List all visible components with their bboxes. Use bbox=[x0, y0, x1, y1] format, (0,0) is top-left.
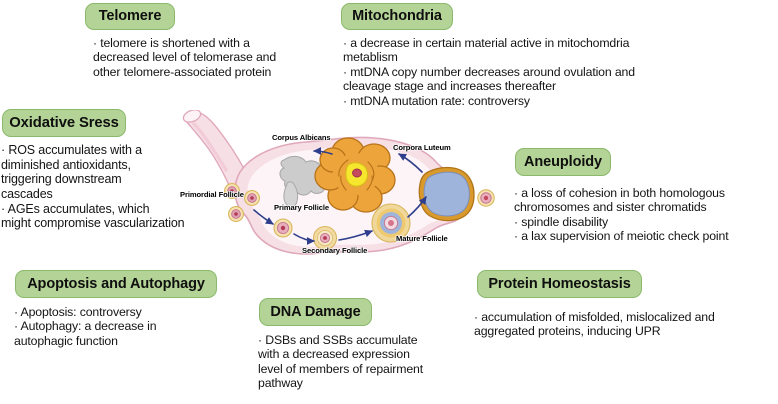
label-secondary-follicle: Secondary Follicle bbox=[302, 246, 367, 255]
label-primary-follicle: Primary Follicle bbox=[274, 203, 329, 212]
released-oocyte bbox=[478, 190, 494, 206]
panel-title-apoptosis-and-autophagy: Apoptosis and Autophagy bbox=[15, 270, 217, 298]
panel-text-dna-damage: · DSBs and SSBs accumulate with a decrea… bbox=[258, 333, 488, 391]
ovary-illustration: Corpus Albicans Corpora Luteum Primordia… bbox=[180, 110, 510, 270]
panel-title-dna-damage: DNA Damage bbox=[259, 298, 372, 326]
panel-title-protein-homeostasis: Protein Homeostasis bbox=[477, 270, 642, 298]
panel-text-aneuploidy: · a loss of cohesion in both homologous … bbox=[514, 186, 778, 244]
panel-title-aneuploidy: Aneuploidy bbox=[515, 148, 611, 176]
panel-title-oxidative-stress: Oxidative Sress bbox=[2, 109, 126, 137]
panel-text-telomere: · telomere is shortened with a decreased… bbox=[93, 36, 333, 79]
panel-text-protein-homeostasis: · accumulation of misfolded, mislocalize… bbox=[474, 310, 774, 339]
panel-text-apoptosis-and-autophagy: · Apoptosis: controversy · Autophagy: a … bbox=[14, 305, 246, 348]
diagram-canvas: Telomere · telomere is shortened with a … bbox=[0, 0, 778, 404]
label-corpora-luteum: Corpora Luteum bbox=[393, 143, 451, 152]
panel-text-mitochondria: · a decrease in certain material active … bbox=[343, 36, 743, 108]
mature-follicle-shape bbox=[419, 167, 474, 220]
label-primordial-follicle: Primordial Follicle bbox=[180, 190, 244, 199]
panel-title-telomere: Telomere bbox=[85, 3, 175, 30]
primary-follicle-shape bbox=[274, 219, 292, 237]
label-corpus-albicans: Corpus Albicans bbox=[272, 133, 331, 142]
panel-title-mitochondria: Mitochondria bbox=[341, 3, 453, 30]
label-mature-follicle: Mature Follicle bbox=[396, 234, 448, 243]
